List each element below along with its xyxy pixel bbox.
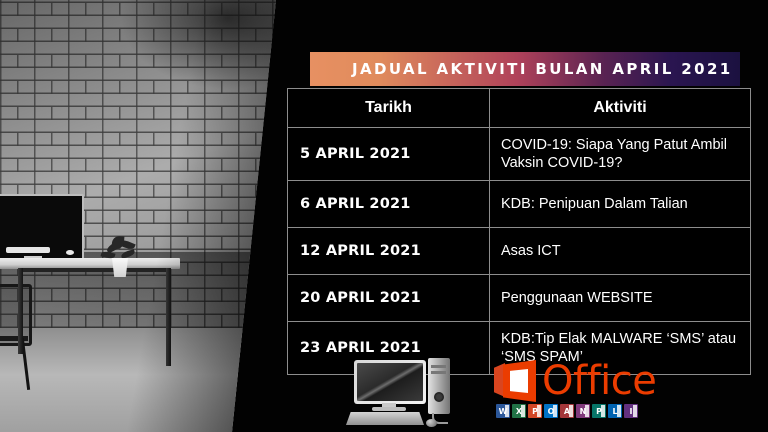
onenote-icon: N: [576, 404, 590, 418]
schedule-table: Tarikh Aktiviti 5 APRIL 2021 COVID-19: S…: [287, 88, 751, 375]
cell-date: 20 APRIL 2021: [288, 275, 490, 322]
photo-edge-fade: [0, 0, 292, 432]
cell-date: 6 APRIL 2021: [288, 181, 490, 228]
computer-monitor-icon: [354, 360, 426, 404]
mouse-icon: [426, 419, 437, 427]
cell-activity: Penggunaan WEBSITE: [490, 275, 751, 322]
table-row: 5 APRIL 2021 COVID-19: Siapa Yang Patut …: [288, 128, 751, 181]
cell-activity: Asas ICT: [490, 228, 751, 275]
access-icon: A: [560, 404, 574, 418]
column-header-aktiviti: Aktiviti: [490, 89, 751, 128]
office-photo: [0, 0, 292, 432]
tower-drive-bay: [431, 371, 446, 374]
word-icon: W: [496, 404, 510, 418]
title-banner: JADUAL AKTIVITI BULAN APRIL 2021: [310, 52, 740, 86]
table-header-row: Tarikh Aktiviti: [288, 89, 751, 128]
desktop-computer-icon: [336, 358, 458, 428]
tower-drive-bay: [431, 365, 446, 368]
powerpoint-icon: P: [528, 404, 542, 418]
publisher-icon: P: [592, 404, 606, 418]
infopath-icon: I: [624, 404, 638, 418]
page-title: JADUAL AKTIVITI BULAN APRIL 2021: [310, 60, 733, 78]
table-row: 6 APRIL 2021 KDB: Penipuan Dalam Talian: [288, 181, 751, 228]
table-row: 12 APRIL 2021 Asas ICT: [288, 228, 751, 275]
office-wordmark: Office: [542, 358, 656, 404]
excel-icon: X: [512, 404, 526, 418]
cell-activity: KDB: Penipuan Dalam Talian: [490, 181, 751, 228]
office-mark-icon: [494, 360, 536, 402]
tower-power-dial: [434, 392, 444, 402]
column-header-tarikh: Tarikh: [288, 89, 490, 128]
slide-canvas: JADUAL AKTIVITI BULAN APRIL 2021 Tarikh …: [0, 0, 768, 432]
office-app-icon-strip: WXPOANPLI: [496, 404, 638, 418]
keyboard-icon: [346, 412, 424, 425]
cell-date: 12 APRIL 2021: [288, 228, 490, 275]
cell-date: 5 APRIL 2021: [288, 128, 490, 181]
monitor-base: [372, 407, 406, 411]
cell-activity: COVID-19: Siapa Yang Patut Ambil Vaksin …: [490, 128, 751, 181]
lync-icon: L: [608, 404, 622, 418]
table-row: 20 APRIL 2021 Penggunaan WEBSITE: [288, 275, 751, 322]
outlook-icon: O: [544, 404, 558, 418]
microsoft-office-logo: Office WXPOANPLI: [494, 360, 670, 422]
